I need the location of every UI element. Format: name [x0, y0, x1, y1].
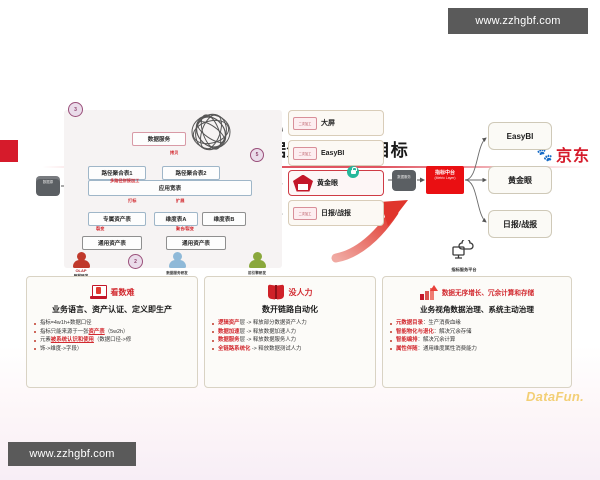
persona-tag: OLAP — [58, 268, 104, 273]
card-no-manpower: 没人力 数开链路自动化 逻辑资产层 -> 释放部分数据资产人力 数据加速层 ->… — [204, 276, 376, 388]
list-item: 逻辑资产层 -> 释放部分数据资产人力 — [211, 319, 369, 328]
metric-service-platform-icon-group: 指标服务平台 — [432, 240, 496, 273]
list-item: 元素被系统认识和使用（数据口径->修 — [33, 336, 191, 345]
app-item-goldeneye[interactable]: 黄金眼 — [288, 170, 384, 196]
card-bullet-list: 指标=4w1h+数据口径 指标只能来源于一张资产表（5w2h） 元素被系统认识和… — [33, 319, 191, 353]
persona-label: 数据服务研发 — [154, 271, 200, 276]
app-item-easybi[interactable]: 二次加工 EasyBI — [288, 140, 384, 166]
card-data-growth-redundancy: 数据无序增长、冗余计算和存储 业务视角数据治理、系统主动治理 元数据目录：生产消… — [382, 276, 572, 388]
datafun-logo-text: DataFun. — [526, 389, 584, 404]
persona-body-icon — [249, 260, 266, 268]
node-data-service[interactable]: 数据服务 — [132, 132, 186, 146]
rework-tag: 二次加工 — [293, 147, 317, 160]
node-exclusive-asset-table[interactable]: 专属资产表 — [88, 212, 146, 226]
pentagon-icon — [293, 175, 313, 192]
edge-label-copy: 拷贝 — [170, 150, 178, 156]
metric-platform-subtitle: (Metric Layer) — [426, 176, 464, 180]
card-subtitle: 数开链路自动化 — [211, 304, 369, 315]
app-item-daily-report[interactable]: 二次加工 日报/战报 — [288, 200, 384, 226]
watermark-top-right: www.zzhgbf.com — [448, 8, 588, 34]
rework-tag: 二次加工 — [293, 207, 317, 220]
card-tag: 没人力 — [289, 287, 313, 298]
badge-step-5: 5 — [250, 148, 264, 162]
node-dim-table-a[interactable]: 维度表A — [154, 212, 198, 226]
tangled-scribble-icon — [188, 112, 234, 152]
list-item: 全链路系统化 -> 释放数据测试人力 — [211, 345, 369, 354]
target-output-goldeneye[interactable]: 黄金眼 — [488, 166, 552, 194]
list-item: 元数据目录：生产消费血缘 — [389, 319, 565, 328]
card-hard-to-read-data: 看数难 业务语言、资产认证、定义即生产 指标=4w1h+数据口径 指标只能来源于… — [26, 276, 198, 388]
source-database-label: 数据源 — [36, 180, 60, 185]
node-dim-table-b[interactable]: 维度表B — [202, 212, 246, 226]
list-item: 属性伴随：通用维度属性消费能力 — [389, 345, 565, 354]
card-tag: 数据无序增长、冗余计算和存储 — [442, 287, 534, 297]
card-header: 数据无序增长、冗余计算和存储 — [389, 281, 565, 303]
book-icon — [268, 285, 285, 299]
slide-canvas: 01.2 数据分析与治理目标 🐾 京东 — [0, 0, 600, 480]
app-item-big-screen[interactable]: 二次加工 大屏 — [288, 110, 384, 136]
node-common-asset-table-1[interactable]: 通用资产表 — [82, 236, 142, 250]
watermark-bottom-left: www.zzhgbf.com — [8, 442, 136, 466]
goal-cards: 看数难 业务语言、资产认证、定义即生产 指标=4w1h+数据口径 指标只能来源于… — [26, 276, 574, 388]
edge-label-join-split: 聚合/裂变 — [176, 226, 194, 232]
application-list: 二次加工 大屏 二次加工 EasyBI 黄金眼 二次加工 日报/战报 — [288, 110, 384, 230]
edge-label-expand: 扩展 — [176, 198, 184, 204]
card-subtitle: 业务语言、资产认证、定义即生产 — [33, 304, 191, 315]
list-item-continuation: 饰->维度->字段） — [33, 345, 191, 354]
source-database-icon: 数据源 — [36, 176, 60, 196]
badge-step-3: 3 — [68, 102, 83, 117]
laptop-cup-icon — [90, 285, 107, 300]
lock-icon — [347, 166, 359, 178]
service-database-icon: 数据服务 — [392, 170, 416, 191]
node-common-asset-table-2[interactable]: 通用资产表 — [166, 236, 226, 250]
persona-body-icon — [169, 260, 186, 268]
growth-bars-icon — [420, 285, 438, 300]
badge-step-2: 2 — [128, 254, 143, 269]
slide-header: 01.2 数据分析与治理目标 🐾 京东 — [0, 62, 600, 108]
card-header: 没人力 — [211, 281, 369, 303]
list-item: 智能物化与退化：解决冗余存储 — [389, 328, 565, 337]
red-accent-tab — [0, 140, 18, 162]
target-output-daily-report[interactable]: 日报/战报 — [488, 210, 552, 238]
persona-label: 前引擎研发 — [234, 271, 280, 276]
rework-tag: 二次加工 — [293, 117, 317, 130]
persona-body-icon — [73, 260, 90, 268]
app-label: 黄金眼 — [317, 178, 338, 188]
list-item: 指标=4w1h+数据口径 — [33, 319, 191, 328]
metric-service-platform-label: 指标服务平台 — [432, 267, 496, 273]
list-item: 指标只能来源于一张资产表（5w2h） — [33, 328, 191, 337]
list-item: 数据加速层 -> 释放数据加速人力 — [211, 328, 369, 337]
card-bullet-list: 元数据目录：生产消费血缘 智能物化与退化：解决冗余存储 智能编排：解决冗余计算 … — [389, 319, 565, 353]
persona-frontend-engine-dev: 前引擎研发 — [234, 252, 280, 276]
cloud-monitor-icon — [451, 240, 477, 260]
card-bullet-list: 逻辑资产层 -> 释放部分数据资产人力 数据加速层 -> 释放数据加速人力 数据… — [211, 319, 369, 353]
app-label: 日报/战报 — [321, 208, 351, 218]
card-header: 看数难 — [33, 281, 191, 303]
list-item: 数据服务层 -> 释放数据服务人力 — [211, 336, 369, 345]
card-subtitle: 业务视角数据治理、系统主动治理 — [389, 304, 565, 315]
persona-data-service-dev: 数据服务研发 — [154, 252, 200, 276]
service-database-label: 数据服务 — [392, 175, 416, 180]
metric-platform-box[interactable]: 指标中台 (Metric Layer) — [426, 166, 464, 194]
datafun-logo: DataFun. — [526, 389, 584, 404]
card-tag: 看数难 — [111, 287, 135, 298]
persona-olap-data-dev: OLAP 数据研发 — [58, 252, 104, 279]
edge-label-split: 裂变 — [96, 226, 104, 232]
architecture-diagram: 数据源 数据服务 路径聚合表1 路径聚合表2 应用宽表 专属资产表 维度表A 维… — [36, 108, 566, 273]
app-label: 大屏 — [321, 118, 335, 128]
app-label: EasyBI — [321, 150, 344, 157]
target-output-easybi[interactable]: EasyBI — [488, 122, 552, 150]
edge-label-multi-path: 多路径拼接加工 — [110, 178, 139, 184]
edge-label-flag: 打标 — [128, 198, 136, 204]
node-path-agg-2[interactable]: 路径聚合表2 — [162, 166, 220, 180]
list-item: 智能编排：解决冗余计算 — [389, 336, 565, 345]
